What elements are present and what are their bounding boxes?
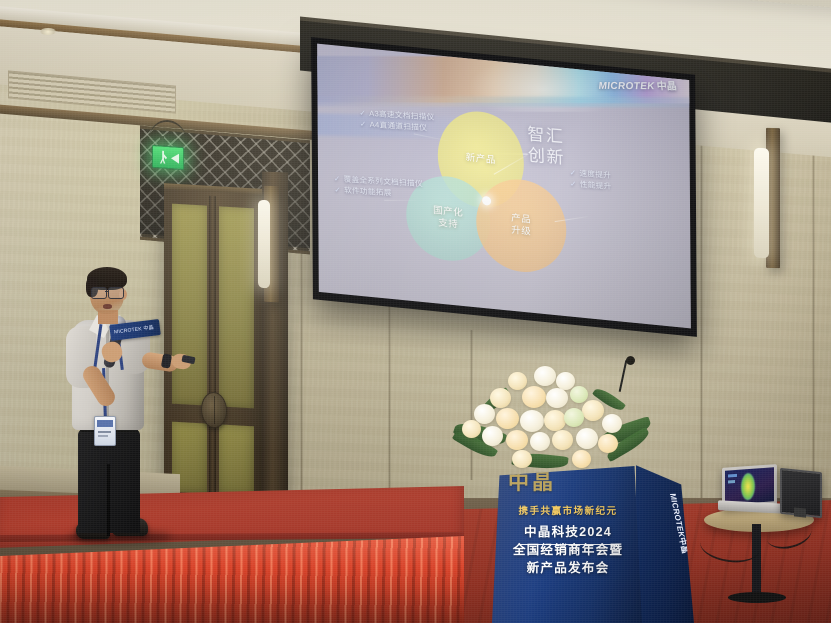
projection-screen-frame: MICROTEK中晶 智汇 创新 新产品 国产化支持 产品升级 [311, 37, 697, 337]
check-icon: ✓ [360, 120, 367, 129]
bullet-text: A4直通道扫描仪 [369, 120, 427, 132]
mouth [103, 304, 112, 309]
flower-blossom [598, 434, 618, 453]
podium-event-title: 中晶科技2024 全国经销商年会暨 新产品发布会 [500, 524, 636, 578]
flower-blossom [462, 420, 481, 438]
slide-title: 智汇 创新 [527, 125, 565, 170]
projection-screen: MICROTEK中晶 智汇 创新 新产品 国产化支持 产品升级 [317, 44, 691, 329]
podium-title-line1: 中晶科技2024 [500, 524, 636, 542]
glasses-lens-right [108, 287, 124, 299]
flower-blossom [522, 386, 546, 408]
podium-divider-rule [518, 544, 618, 545]
venn-label-line2: 升级 [511, 225, 531, 238]
flower-blossom [576, 428, 598, 449]
table-leg [752, 524, 761, 596]
flower-blossom [572, 450, 591, 468]
microphone-flag-text: MICROTEK 中晶 [114, 324, 155, 336]
podium: 中晶 携手共赢市场新纪元 中晶科技2024 全国经销商年会暨 新产品发布会 [492, 466, 642, 623]
speaker-presenter: MICROTEK 中晶 [62, 268, 192, 538]
slide-bullets-bottom-left: ✓覆盖全系列文档扫描仪 ✓软件功能拓展 [334, 173, 424, 201]
flower-blossom [534, 366, 556, 386]
microtek-logo-cn: 中晶 [657, 81, 678, 92]
venn-label-domestic-support: 国产化支持 [433, 205, 463, 231]
badge-header [97, 420, 113, 427]
check-icon: ✓ [570, 179, 577, 188]
podium-slogan: 携手共赢市场新纪元 [502, 503, 634, 517]
bullet-text: 性能提升 [580, 180, 612, 191]
venn-circle-product-upgrade: 产品升级 [476, 175, 567, 276]
monitor-stand [794, 507, 806, 517]
laptop-ui-element [728, 474, 737, 478]
name-badge [94, 416, 116, 446]
podium-title-line3: 新产品发布会 [500, 560, 636, 578]
trouser-gap [107, 464, 110, 536]
conference-photo: MICROTEK中晶 智汇 创新 新产品 国产化支持 产品升级 [0, 0, 831, 623]
table-base [728, 592, 786, 603]
slide-title-line1: 智汇 [527, 125, 564, 149]
glasses-lens-left [91, 287, 107, 299]
flower-blossom [508, 372, 527, 390]
slide-bullets-right: ✓速度提升 ✓性能提升 [570, 167, 612, 193]
flower-blossom [530, 432, 550, 451]
slide-title-line2: 创新 [528, 145, 565, 169]
flower-blossom [582, 400, 604, 421]
flower-blossom [544, 410, 566, 431]
bullet-item: ✓性能提升 [570, 178, 612, 192]
slide-band-edge [317, 96, 691, 108]
microtek-logo: MICROTEK中晶 [598, 77, 678, 93]
venn-label-line2: 支持 [438, 218, 458, 231]
venn-center-dot [482, 196, 491, 206]
flower-blossom [564, 408, 584, 427]
flower-blossom [482, 426, 503, 446]
bullet-text: 软件功能拓展 [344, 186, 392, 198]
flower-blossom [496, 408, 519, 429]
flower-blossom [506, 430, 528, 450]
bullet-text: 速度提升 [579, 169, 611, 180]
check-icon: ✓ [359, 108, 366, 117]
glasses-bridge [105, 291, 109, 292]
decor-stick-ball [626, 356, 635, 365]
flower-blossom [570, 386, 588, 403]
venn-label-new-product: 新产品 [466, 152, 496, 167]
flower-arrangement [452, 362, 652, 480]
badge-line [98, 435, 108, 437]
decor-stick [619, 360, 628, 392]
laptop-display [725, 467, 774, 504]
flower-blossom [490, 388, 511, 408]
check-icon: ✓ [334, 185, 341, 194]
microtek-wordmark: MICROTEK [599, 81, 656, 92]
flower-blossom [602, 414, 622, 433]
flower-blossom [520, 410, 544, 432]
slide-bullets-top-left: ✓A3高速文档扫描仪 ✓A4直通道扫描仪 [359, 107, 435, 134]
laptop-ui-element [728, 480, 735, 483]
venn-label-product-upgrade: 产品升级 [511, 213, 531, 238]
badge-line [98, 431, 111, 433]
flower-blossom [546, 388, 568, 408]
flower-blossom [512, 450, 532, 468]
flower-blossom [552, 430, 573, 450]
laptop-image-preview [741, 473, 755, 501]
check-icon: ✓ [334, 174, 341, 183]
check-icon: ✓ [570, 168, 577, 177]
